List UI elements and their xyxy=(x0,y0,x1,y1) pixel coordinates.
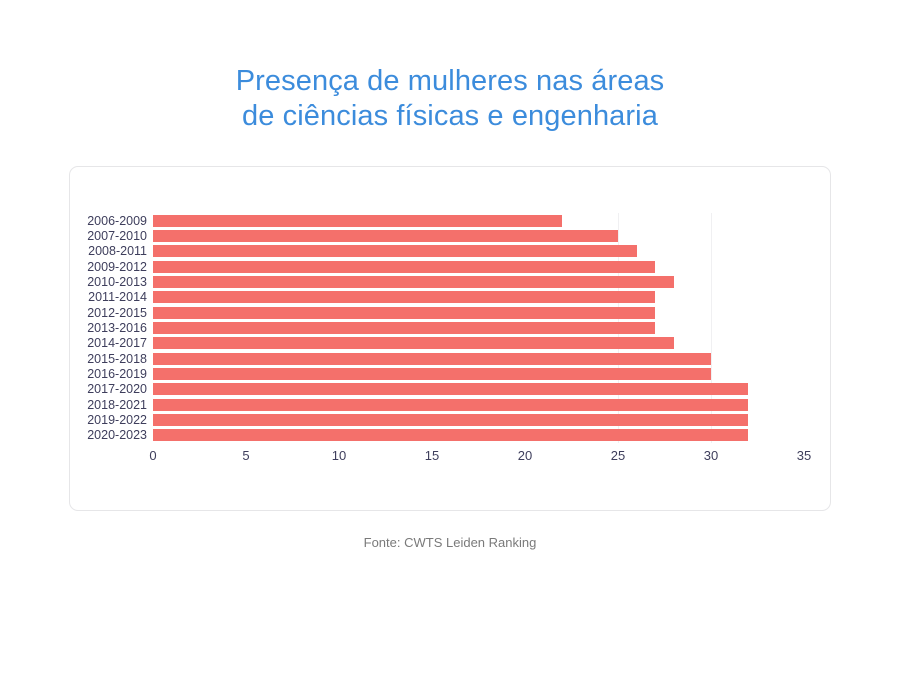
bar-row[interactable] xyxy=(153,399,748,411)
bar-row[interactable] xyxy=(153,322,655,334)
x-axis-tick-5: 5 xyxy=(242,448,249,463)
bar-row[interactable] xyxy=(153,368,711,380)
bar-2017-2020[interactable] xyxy=(153,383,748,395)
bar-row[interactable] xyxy=(153,276,674,288)
bar-row[interactable] xyxy=(153,429,748,441)
bar-row[interactable] xyxy=(153,353,711,365)
bar-row[interactable] xyxy=(153,215,562,227)
x-axis-tick-0: 0 xyxy=(149,448,156,463)
bar-2006-2009[interactable] xyxy=(153,215,562,227)
bar-2008-2011[interactable] xyxy=(153,245,637,257)
plot-area xyxy=(153,213,804,443)
bar-2016-2019[interactable] xyxy=(153,368,711,380)
x-axis-tick-35: 35 xyxy=(797,448,811,463)
bar-2009-2012[interactable] xyxy=(153,261,655,273)
y-axis-label-2009-2012: 2009-2012 xyxy=(7,261,147,273)
bar-2014-2017[interactable] xyxy=(153,337,674,349)
y-axis-label-2010-2013: 2010-2013 xyxy=(7,276,147,288)
bar-row[interactable] xyxy=(153,383,748,395)
x-axis-tick-10: 10 xyxy=(332,448,346,463)
chart-source-caption: Fonte: CWTS Leiden Ranking xyxy=(0,535,900,550)
y-axis-label-2012-2015: 2012-2015 xyxy=(7,307,147,319)
page-title: Presença de mulheres nas áreas de ciênci… xyxy=(0,64,900,134)
bar-2015-2018[interactable] xyxy=(153,353,711,365)
y-axis-label-2006-2009: 2006-2009 xyxy=(7,215,147,227)
bar-2018-2021[interactable] xyxy=(153,399,748,411)
y-axis-label-2017-2020: 2017-2020 xyxy=(7,383,147,395)
bar-row[interactable] xyxy=(153,230,618,242)
bar-row[interactable] xyxy=(153,261,655,273)
y-axis-label-2016-2019: 2016-2019 xyxy=(7,368,147,380)
y-axis-label-2018-2021: 2018-2021 xyxy=(7,399,147,411)
bar-2010-2013[interactable] xyxy=(153,276,674,288)
y-axis-label-2008-2011: 2008-2011 xyxy=(7,245,147,257)
bar-row[interactable] xyxy=(153,245,637,257)
y-axis-label-2011-2014: 2011-2014 xyxy=(7,291,147,303)
y-axis-label-2015-2018: 2015-2018 xyxy=(7,353,147,365)
x-axis-tick-30: 30 xyxy=(704,448,718,463)
bar-row[interactable] xyxy=(153,414,748,426)
y-axis-label-2014-2017: 2014-2017 xyxy=(7,337,147,349)
y-axis: 2006-20092007-20102008-20112009-20122010… xyxy=(6,213,147,443)
bar-2020-2023[interactable] xyxy=(153,429,748,441)
bar-row[interactable] xyxy=(153,307,655,319)
bar-2007-2010[interactable] xyxy=(153,230,618,242)
bar-row[interactable] xyxy=(153,337,674,349)
x-axis-tick-15: 15 xyxy=(425,448,439,463)
bar-row[interactable] xyxy=(153,291,655,303)
bar-2011-2014[interactable] xyxy=(153,291,655,303)
y-axis-label-2019-2022: 2019-2022 xyxy=(7,414,147,426)
x-axis-tick-20: 20 xyxy=(518,448,532,463)
x-axis-tick-25: 25 xyxy=(611,448,625,463)
bar-2013-2016[interactable] xyxy=(153,322,655,334)
bar-2019-2022[interactable] xyxy=(153,414,748,426)
y-axis-label-2020-2023: 2020-2023 xyxy=(7,429,147,441)
x-axis: 05101520253035 xyxy=(153,448,804,470)
y-axis-label-2007-2010: 2007-2010 xyxy=(7,230,147,242)
y-axis-label-2013-2016: 2013-2016 xyxy=(7,322,147,334)
bar-2012-2015[interactable] xyxy=(153,307,655,319)
